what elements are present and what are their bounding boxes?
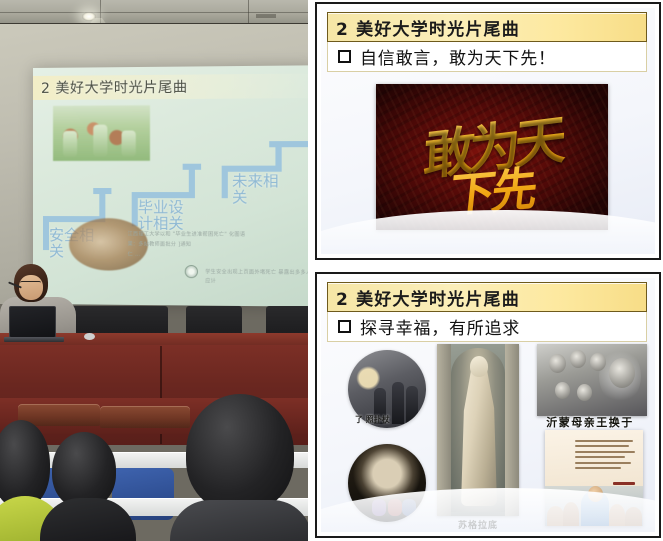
slide-bullet-row-top: 自信敢言，敢为天下先！ <box>327 42 647 72</box>
diagram-label-future: 未来相关 <box>232 174 286 206</box>
screenshot-root: 2 美好大学时光片尾曲 <box>0 0 663 541</box>
diagram-label-graduation: 毕业设计相关 <box>138 200 191 232</box>
slide-bullet-row-bottom: 探寻幸福，有所追求 <box>327 312 647 342</box>
projected-slide-fineprint-3: 仁 … <box>128 250 251 259</box>
book-cover-photo <box>545 430 643 526</box>
projected-slide-fineprint-2: 果：多站教师面批分 ]通知 <box>128 240 251 249</box>
historic-portrait-photo <box>537 344 647 416</box>
projected-slide-url <box>207 293 308 294</box>
socrates-statue-photo <box>437 344 519 516</box>
ceiling-marking <box>256 14 276 18</box>
slide-panel-top[interactable]: 2 美好大学时光片尾曲 自信敢言，敢为天下先！ 敢为天 下先 <box>315 2 661 260</box>
slide-header-bar-top: 2 美好大学时光片尾曲 <box>327 12 647 42</box>
slide-panel-bottom[interactable]: 2 美好大学时光片尾曲 探寻幸福，有所追求 了 照扑杖 <box>315 272 661 538</box>
slide-header-title-top: 2 美好大学时光片尾曲 <box>336 15 520 40</box>
book-teacher-head <box>588 486 603 502</box>
calligraphy-image: 敢为天 下先 <box>376 84 608 230</box>
projected-slide-title: 2 美好大学时光片尾曲 <box>41 77 188 98</box>
square-bullet-icon <box>338 50 351 63</box>
audience-head-2 <box>52 432 116 508</box>
book-poem-lines <box>575 440 637 472</box>
socrates-statue-caption: 苏格拉底 <box>437 518 519 531</box>
slide-canvas-bottom: 2 美好大学时光片尾曲 探寻幸福，有所追求 了 照扑杖 <box>321 278 655 532</box>
presenter-glasses <box>20 281 41 286</box>
book-children-photo <box>545 486 643 526</box>
presenter-face <box>19 275 43 300</box>
historic-portrait-caption: 沂蒙母亲王换于 <box>531 414 649 430</box>
slide-bullet-text-top: 自信敢言，敢为天下先！ <box>360 44 556 69</box>
mouse <box>84 333 95 340</box>
slide-bullet-text-bottom: 探寻幸福，有所追求 <box>360 314 520 339</box>
projected-slide-logo <box>185 265 198 278</box>
slide-header-title-bottom: 2 美好大学时光片尾曲 <box>336 285 520 310</box>
ceiling-seam-upper <box>0 12 308 13</box>
circular-photo-top-caption: 了 照扑杖 <box>355 414 390 425</box>
slide-header-bar-bottom: 2 美好大学时光片尾曲 <box>327 282 647 312</box>
book-signature <box>613 482 635 485</box>
audience-head-3 <box>186 394 294 512</box>
square-bullet-icon <box>338 320 351 333</box>
circular-photo-bottom <box>348 444 426 522</box>
projected-slide-footer-note: 学生安全出现上页面外堵死亡 暴露出多多人相应计 <box>205 268 308 286</box>
slide-canvas-top: 2 美好大学时光片尾曲 自信敢言，敢为天下先！ 敢为天 下先 <box>321 8 655 254</box>
ceiling-panel-line-right <box>248 0 249 24</box>
laptop-base <box>4 337 64 342</box>
bench-mid <box>100 406 190 428</box>
projection-screen: 2 美好大学时光片尾曲 <box>33 65 308 306</box>
projected-slide-photo <box>53 105 150 161</box>
book-teacher-figure <box>581 490 609 526</box>
lecture-hall-photograph: 2 美好大学时光片尾曲 <box>0 0 308 541</box>
laptop <box>9 306 56 338</box>
audience-shoulder-3 <box>170 500 308 541</box>
projected-slide-fineprint-1: 江西理工大学以和 "毕业生进准帮困死亡" 化图语 <box>128 230 251 239</box>
